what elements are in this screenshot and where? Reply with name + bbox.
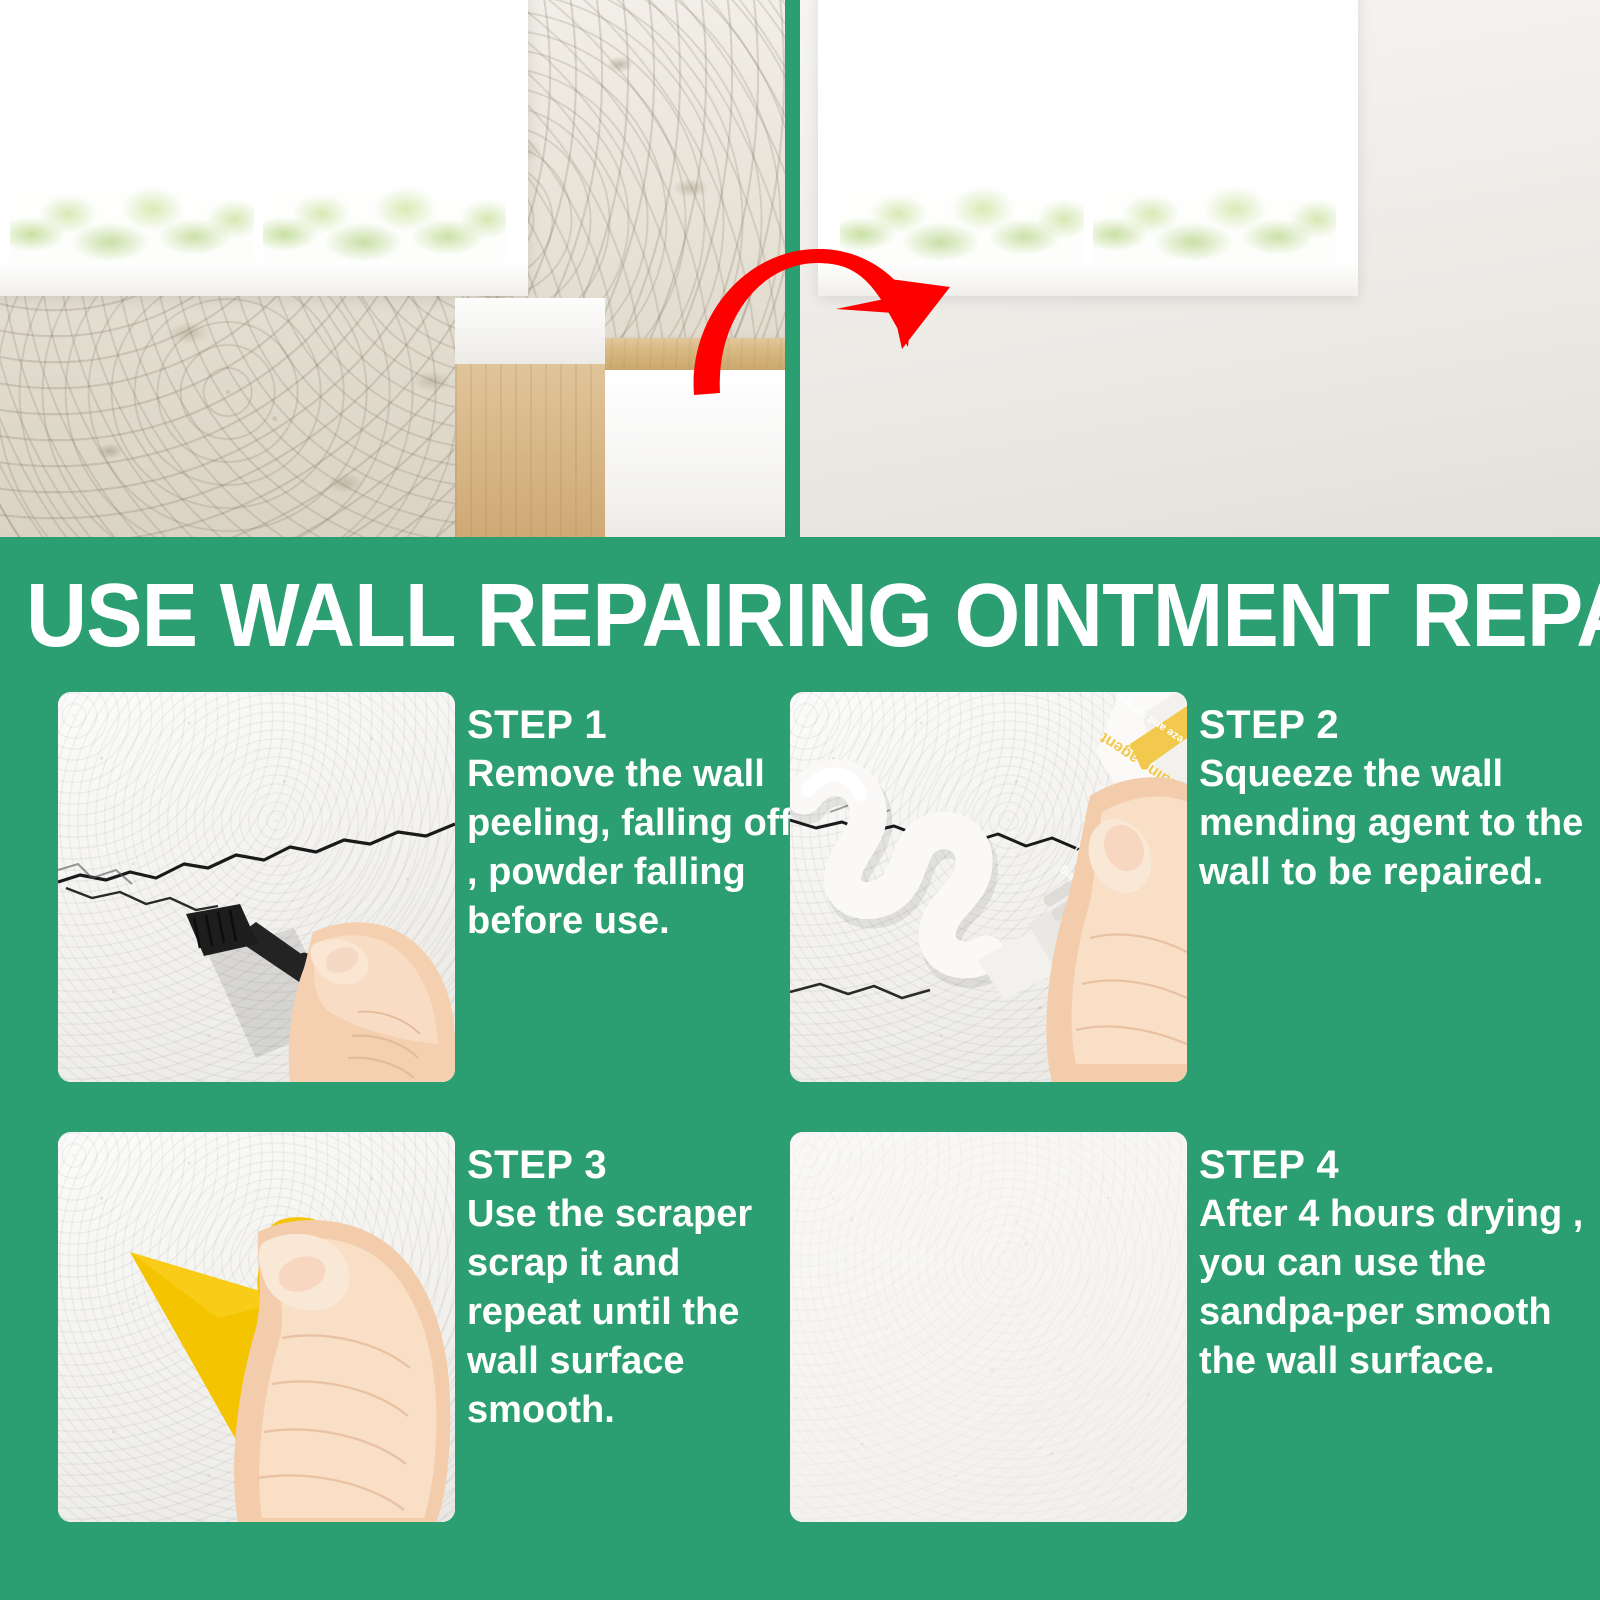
step-3-label: STEP 3 <box>467 1140 797 1190</box>
wooden-counter <box>598 338 785 372</box>
floor <box>455 364 605 537</box>
palm-trees <box>10 135 254 262</box>
page-title: USE WALL REPAIRING OINTMENT REPAIR <box>26 568 1481 664</box>
window-glass <box>10 0 506 262</box>
baseboard <box>455 298 605 370</box>
step-1-text: STEP 1 Remove the wall peeling, falling … <box>467 700 797 946</box>
step-3-text: STEP 3 Use the scraper scrap it and repe… <box>467 1140 797 1435</box>
after-photo <box>800 0 1600 537</box>
step-2-label: STEP 2 <box>1199 700 1589 750</box>
step-4-text: STEP 4 After 4 hours drying , you can us… <box>1199 1140 1589 1386</box>
step-2-description: Squeeze the wall mending agent to the wa… <box>1199 750 1589 897</box>
window-sill <box>818 262 1358 296</box>
steps-grid: STEP 1 Remove the wall peeling, falling … <box>0 680 1600 1600</box>
step1-brush-cleaning-crack-photo <box>58 692 455 1082</box>
step-1-label: STEP 1 <box>467 700 797 750</box>
window-glass <box>840 0 1336 262</box>
step-2-text: STEP 2 Squeeze the wall mending agent to… <box>1199 700 1589 897</box>
window-sill <box>0 262 528 296</box>
step3-yellow-scraper-photo <box>58 1132 455 1522</box>
before-photo <box>0 0 785 537</box>
palm-trees <box>254 135 507 262</box>
step4-smooth-wall-photo <box>790 1132 1187 1522</box>
palm-trees <box>840 135 1084 262</box>
step-1-description: Remove the wall peeling, falling off , p… <box>467 750 797 946</box>
step-4-description: After 4 hours drying , you can use the s… <box>1199 1190 1589 1386</box>
before-after-photo-band <box>0 0 1600 537</box>
palm-trees <box>1084 135 1337 262</box>
white-cabinet <box>602 370 785 537</box>
step-4-label: STEP 4 <box>1199 1140 1589 1190</box>
step2-squeeze-agent-photo: NET:100G/3.53 OZ standing on the wall an… <box>790 692 1187 1082</box>
photo-divider <box>785 0 800 537</box>
infographic-page: USE WALL REPAIRING OINTMENT REPAIR <box>0 0 1600 1600</box>
step-3-description: Use the scraper scrap it and repeat unti… <box>467 1190 797 1435</box>
